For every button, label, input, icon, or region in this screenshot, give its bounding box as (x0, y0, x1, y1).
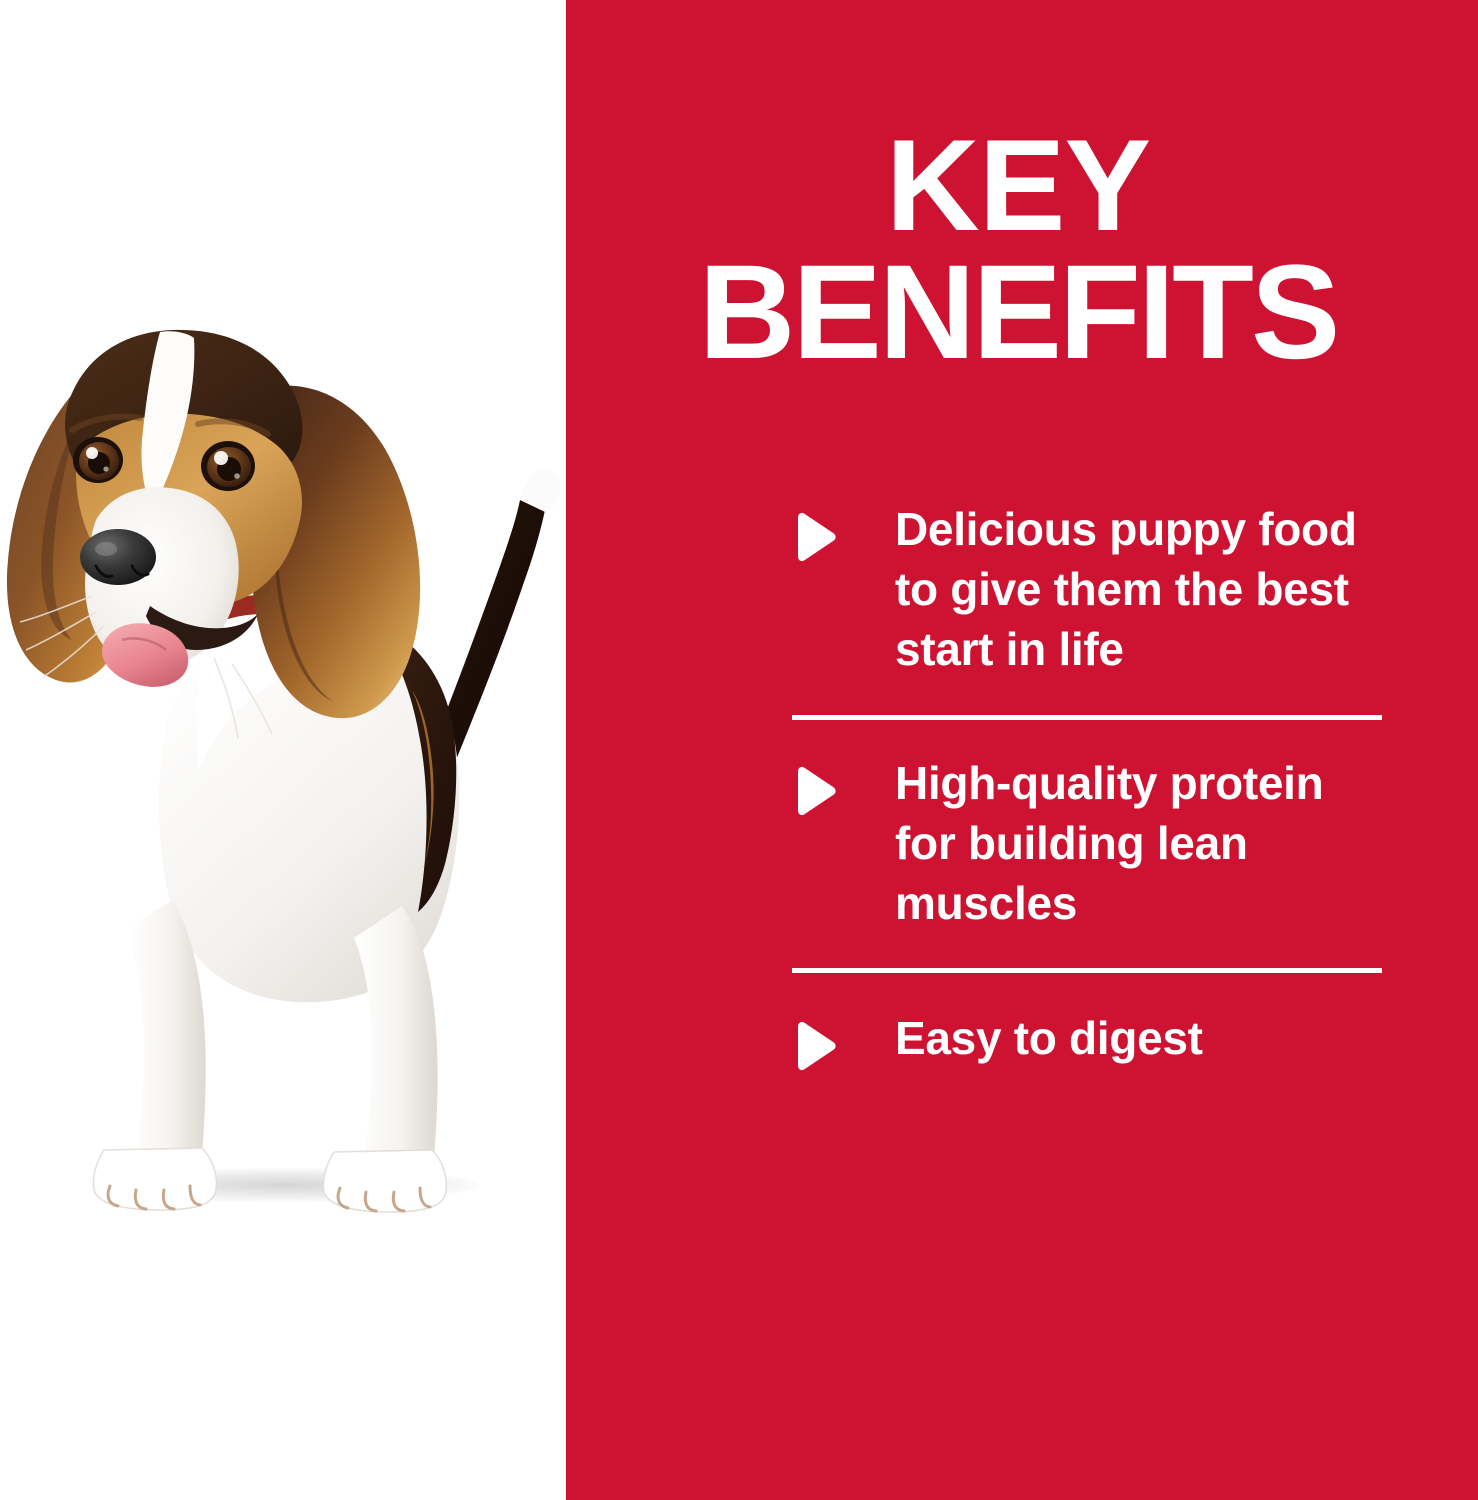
puppy-eye-right (201, 441, 255, 491)
puppy-eye-left (73, 437, 123, 483)
triangle-right-icon (792, 766, 838, 816)
puppy-paws (93, 1148, 446, 1212)
puppy-nose (80, 529, 156, 585)
product-image-panel (0, 0, 566, 1500)
benefit-text-3: Easy to digest (895, 1009, 1203, 1069)
puppy-photo (0, 0, 566, 1500)
benefit-list: Delicious puppy food to give them the be… (792, 500, 1392, 1071)
puppy-tail (433, 469, 560, 760)
beagle-puppy-illustration (0, 0, 566, 1500)
page-title: KEY BENEFITS (614, 122, 1422, 378)
triangle-right-icon (792, 1021, 838, 1071)
triangle-right-icon (792, 512, 838, 562)
key-benefits-banner: KEY BENEFITS Delicious puppy food to giv… (0, 0, 1478, 1500)
benefit-divider-2 (792, 968, 1382, 973)
benefit-item-1: Delicious puppy food to give them the be… (792, 500, 1392, 679)
benefit-text-2: High-quality protein for building lean m… (895, 754, 1392, 933)
benefit-text-1: Delicious puppy food to give them the be… (895, 500, 1392, 679)
benefit-item-3: Easy to digest (792, 1009, 1392, 1071)
benefit-divider-1 (792, 715, 1382, 720)
headline-line-2: BENEFITS (614, 248, 1422, 378)
key-benefits-panel: KEY BENEFITS Delicious puppy food to giv… (566, 0, 1478, 1500)
benefit-item-2: High-quality protein for building lean m… (792, 754, 1392, 933)
headline-line-1: KEY (614, 122, 1422, 248)
